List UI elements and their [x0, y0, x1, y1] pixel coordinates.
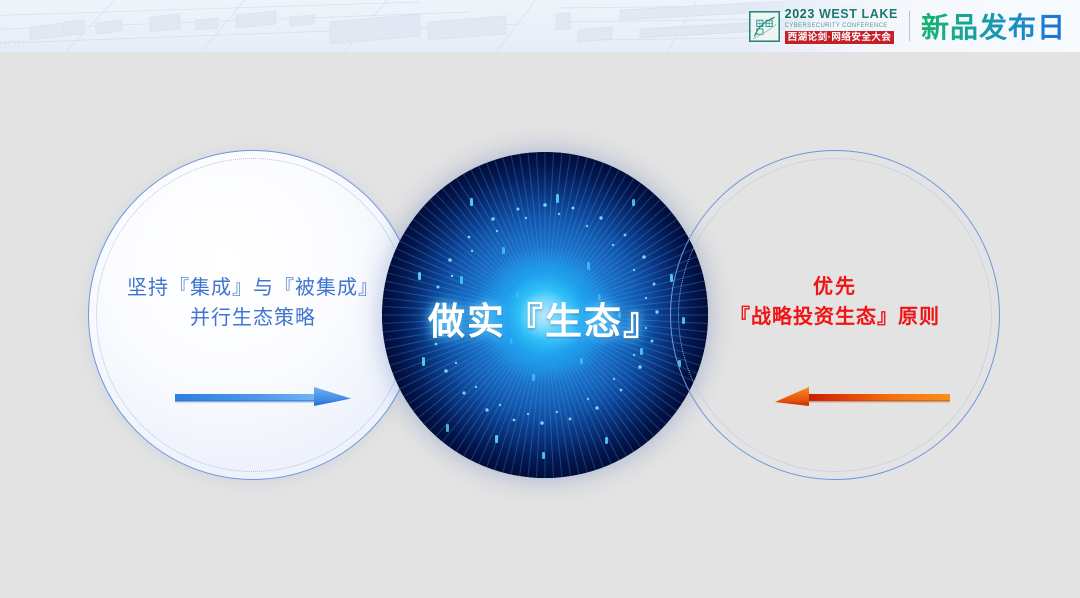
left-circle-line2: 并行生态策略 — [88, 302, 418, 332]
brand-divider — [909, 11, 910, 41]
brand-lockup: 2023 WEST LAKE CYBERSECURITY CONFERENCE … — [749, 0, 1066, 52]
west-lake-seal-icon — [749, 11, 780, 42]
center-sphere: 做实『生态』 — [382, 152, 708, 478]
event-title: 新品发布日 — [921, 6, 1066, 46]
right-arrow — [775, 383, 950, 418]
header-bar: 2023 WEST LAKE CYBERSECURITY CONFERENCE … — [0, 0, 1080, 52]
logo-name-en: WEST LAKE — [819, 7, 898, 21]
arrow-left-icon — [775, 383, 950, 413]
logo-year: 2023 — [785, 7, 815, 21]
right-circle-line2: 『战略投资生态』原则 — [670, 302, 1000, 332]
left-circle-text: 坚持『集成』与『被集成』 并行生态策略 — [88, 272, 418, 333]
left-circle-line1: 坚持『集成』与『被集成』 — [88, 272, 418, 302]
right-circle-text: 优先 『战略投资生态』原则 — [670, 272, 1000, 333]
center-label: 做实『生态』 — [382, 291, 708, 345]
logo-subtitle-en: CYBERSECURITY CONFERENCE — [785, 23, 888, 29]
conference-logo: 2023 WEST LAKE CYBERSECURITY CONFERENCE … — [749, 8, 898, 44]
left-arrow — [175, 383, 355, 418]
arrow-right-icon — [175, 383, 355, 413]
logo-name-cn: 西湖论剑·网络安全大会 — [785, 31, 895, 44]
right-circle-line1: 优先 — [670, 272, 1000, 302]
logo-title-en: 2023 WEST LAKE — [785, 8, 898, 21]
slide-canvas: 2023 WEST LAKE CYBERSECURITY CONFERENCE … — [0, 0, 1080, 598]
